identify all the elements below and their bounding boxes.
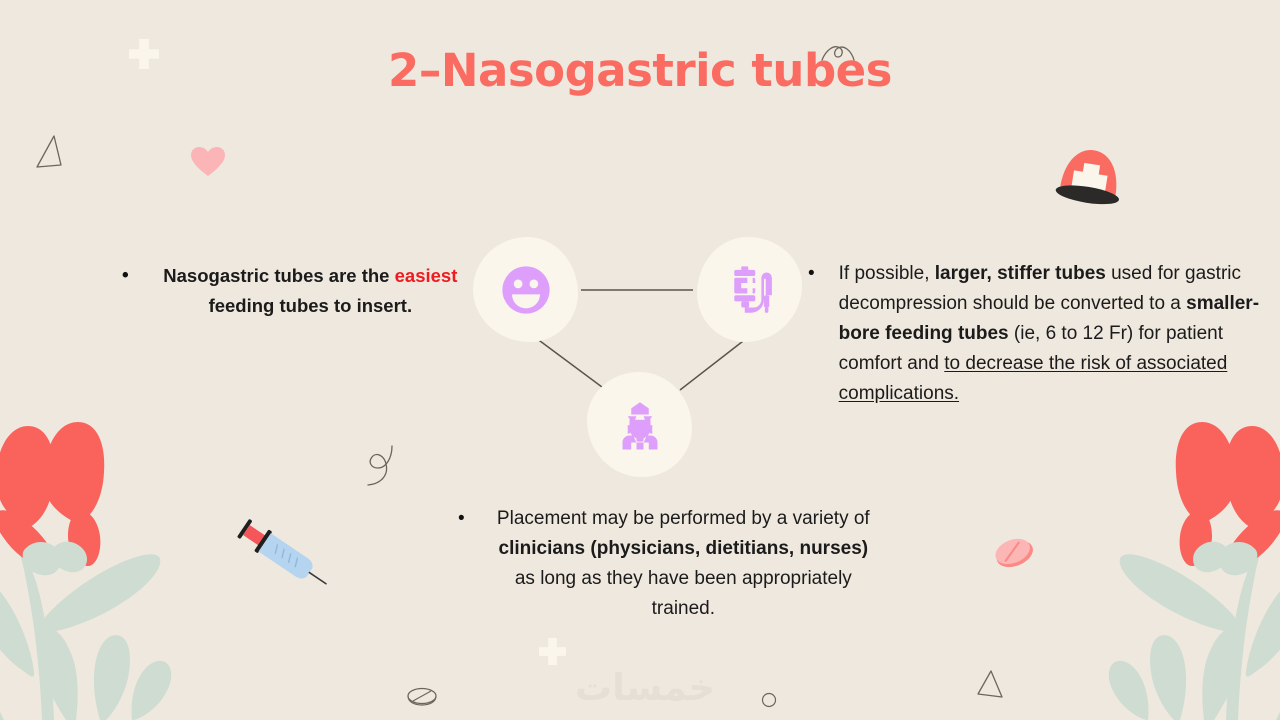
floral-corner-right-decoration [1088,420,1280,720]
left-bullet-marker: • [122,261,129,321]
slide-canvas: 2–Nasogastric tubes [0,0,1280,720]
triangle-doodle-left [33,133,67,173]
right-bullet-text: If possible, larger, stiffer tubes used … [839,259,1268,409]
left-bullet-block: • Nasogastric tubes are the easiest feed… [122,261,472,321]
pill-tablet-decoration [992,534,1036,570]
bottom-bullet-s2-bold: clinicians (physicians, dietitians, nurs… [499,538,869,559]
bottom-bullet-s3: as long as they have been appropriately … [515,568,852,619]
pill-outline-doodle [404,684,440,710]
right-bullet-marker: • [808,259,815,409]
right-bullet-block: • If possible, larger, stiffer tubes use… [808,259,1268,409]
floral-corner-left-decoration [0,420,192,720]
curl-doodle-left [362,442,402,492]
bottom-bullet-text: Placement may be performed by a variety … [489,504,878,624]
bottom-bullet-s1: Placement may be performed by a variety … [497,508,870,529]
diagram-node-smiley[interactable] [473,237,578,342]
bottom-bullet-block: • Placement may be performed by a variet… [458,504,878,624]
left-bullet-highlight: easiest [395,265,458,286]
syringe-decoration [228,508,340,598]
left-bullet-part2: feeding tubes to insert. [209,295,413,316]
nurse-icon [612,397,668,453]
concept-diagram [465,232,810,487]
iv-drip-bag-icon [722,262,778,318]
smiley-face-icon [498,262,554,318]
slide-title: 2–Nasogastric tubes [0,44,1280,97]
watermark: خمسات [540,666,750,709]
left-bullet-part1: Nasogastric tubes are the [163,265,394,286]
left-bullet-text: Nasogastric tubes are the easiest feedin… [149,261,472,321]
heart-decoration [191,147,225,177]
circle-doodle [760,691,780,711]
nurse-cap-decoration [1040,140,1140,216]
cross-decoration-bottom-center [539,638,566,665]
bottom-bullet-marker: • [458,504,465,624]
right-bullet-s2-bold: larger, stiffer tubes [935,263,1106,284]
right-bullet-s1: If possible, [839,263,935,284]
triangle-doodle-bottom-right [973,668,1007,708]
